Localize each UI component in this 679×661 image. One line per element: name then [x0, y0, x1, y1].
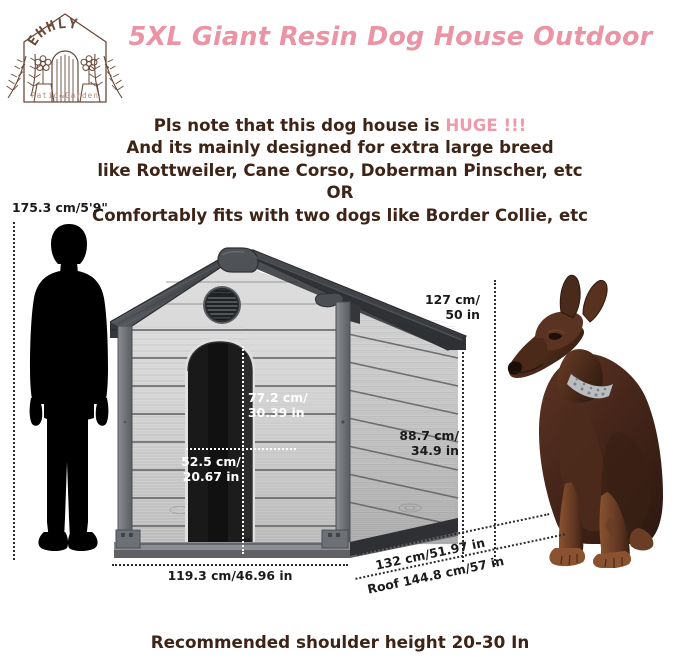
human-silhouette: [22, 222, 116, 558]
house-total-height-line2: 50 in: [395, 307, 480, 322]
door-height-line1: 77.2 cm/: [248, 390, 338, 405]
round-louvered-vent: [203, 286, 241, 324]
door-height-guide-line: [242, 346, 244, 554]
arched-door-opening: [185, 339, 255, 544]
footer-recommendation: Recommended shoulder height 20-30 In: [40, 632, 640, 652]
door-height-label: 77.2 cm/ 30.39 in: [248, 390, 338, 420]
brand-logo: EHHLY Patio&Garden: [6, 6, 124, 110]
door-width-label: 52.5 cm/ 20.67 in: [178, 454, 244, 484]
side-wall-height-line2: 34.9 in: [374, 443, 459, 458]
logo-sub-text: Patio&Garden: [31, 91, 99, 100]
house-total-height-label: 127 cm/ 50 in: [395, 292, 480, 322]
note-line-1: Pls note that this dog house is HUGE !!!: [40, 115, 640, 137]
house-total-height-line1: 127 cm/: [395, 292, 480, 307]
note-huge-emphasis: HUGE !!!: [445, 116, 526, 135]
door-width-guide-line: [186, 448, 296, 450]
svg-text:EHHLY: EHHLY: [25, 16, 80, 49]
note-line-1-text: Pls note that this dog house is: [154, 116, 446, 135]
door-width-line1: 52.5 cm/: [178, 454, 244, 469]
person-height-label: 175.3 cm/5'9": [12, 200, 132, 215]
side-wall-height-label: 88.7 cm/ 34.9 in: [374, 428, 459, 458]
note-line-2: And its mainly designed for extra large …: [40, 137, 640, 159]
note-line-3: like Rottweiler, Cane Corso, Doberman Pi…: [40, 160, 640, 182]
front-width-label: 119.3 cm/46.96 in: [150, 568, 310, 583]
page-title: 5XL Giant Resin Dog House Outdoor: [108, 22, 673, 52]
door-width-line2: 20.67 in: [178, 469, 244, 484]
front-width-guide-line: [112, 564, 348, 566]
logo-arch-text: EHHLY: [25, 16, 80, 49]
door-height-line2: 30.39 in: [248, 405, 338, 420]
person-height-guide-line: [13, 222, 15, 560]
side-wall-height-line1: 88.7 cm/: [374, 428, 459, 443]
